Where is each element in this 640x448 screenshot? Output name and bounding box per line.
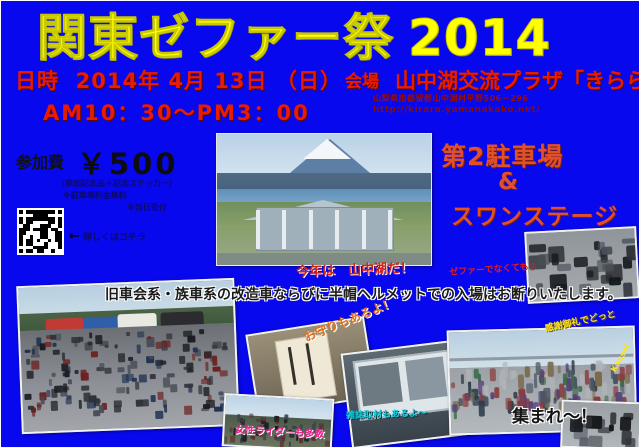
fee-note-3: ※当日受付 [127,202,167,213]
parking-heading-line1: 第2駐車場 [441,137,563,173]
caption-gather: 集まれ〜！ [512,402,597,427]
pavilion-posts [256,210,393,249]
event-time-value: AM10：30〜PM3：00 [43,97,310,127]
title-main-text: 関東ゼファー祭 [37,9,394,67]
qr-code-pattern [19,210,62,253]
fuji-snowcap-shape [303,139,351,159]
entry-restriction-warning: 旧車会系・族車系の改造車ならびに半帽ヘルメットでの入場はお断りいたします。 [105,284,622,304]
fee-note-1: （参加記念品＋記念ステッカー） [57,178,177,189]
arrow-left-icon: ← [69,229,80,244]
parking-heading-line2: スワンステージ [451,197,618,231]
photo-fuji-stage [216,133,432,266]
venue-name: 山中湖交流プラザ「きらら」 [395,65,640,95]
panel-photo-left [358,362,403,407]
fee-note-2: ※駐車場料金無料 [63,190,127,201]
venue-address: 山梨県南都留郡山中湖村平野506－296 [373,93,528,104]
event-flyer: 関東ゼファー祭2014 日時 2014年 4月 13日 （日） AM10：30〜… [0,0,640,448]
parking-heading-ampersand: & [498,169,518,195]
title-year-text: 2014 [408,9,551,67]
qr-caption: 詳しくはコチラ [83,230,146,243]
venue-label: 会場 [345,67,379,92]
qr-code[interactable] [17,208,64,255]
datetime-value: 2014年 4月 13日 （日） [76,69,342,93]
caption-this-year: 今年は 山中湖だ！ [296,257,414,280]
datetime-label: 日時 [15,69,59,93]
fee-amount: ￥500 [77,141,179,183]
motorcycle-crowd-shapes [20,326,237,423]
venue-url[interactable]: http://kirara.yamanakako.net/ [373,105,540,115]
fee-label: 参加費 [16,149,64,173]
event-datetime-row: 日時 2014年 4月 13日 （日） [15,65,342,95]
page-title: 関東ゼファー祭2014 [37,9,617,67]
panel-photo-right [405,356,447,401]
